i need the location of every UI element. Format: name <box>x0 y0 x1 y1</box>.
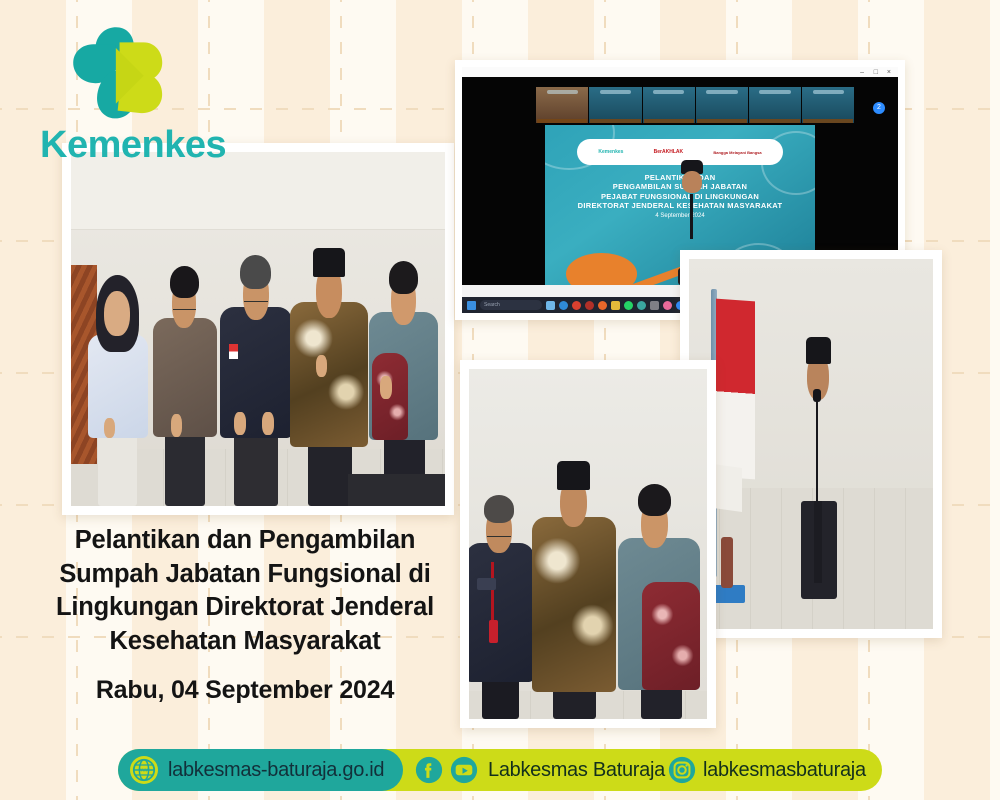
participant-thumbnail[interactable] <box>536 87 588 122</box>
footer-bar: www labkesmas-baturaja.go.id Labkesmas B… <box>0 740 1000 800</box>
instagram-icon[interactable] <box>668 756 696 784</box>
youtube-icon[interactable] <box>450 756 478 784</box>
kemenkes-logo-icon <box>58 22 170 124</box>
caption-line-4: Kesehatan Masyarakat <box>30 625 460 659</box>
taskbar-search-input[interactable]: Search <box>480 300 542 310</box>
caption-line-2: Sumpah Jabatan Fungsional di <box>30 558 460 592</box>
participant-thumbnail-strip <box>536 87 854 122</box>
participant-thumbnail[interactable] <box>643 87 695 122</box>
facebook-icon[interactable] <box>415 756 443 784</box>
facebook-youtube-handle[interactable]: Labkesmas Baturaja <box>488 758 665 782</box>
taskbar-app-icon[interactable] <box>650 301 659 310</box>
svg-text:www: www <box>139 768 150 774</box>
window-titlebar <box>462 67 898 77</box>
windows-start-icon[interactable] <box>467 301 476 310</box>
group-photo-five-people[interactable] <box>62 143 454 515</box>
caption-line-1: Pelantikan dan Pengambilan <box>30 524 460 558</box>
brand-logo: Kemenkes <box>40 22 226 164</box>
participant-count-badge[interactable]: 2 <box>873 102 885 114</box>
website-url[interactable]: labkesmas-baturaja.go.id <box>168 758 384 782</box>
taskbar-edge-icon[interactable] <box>559 301 568 310</box>
event-date: Rabu, 04 September 2024 <box>30 676 460 705</box>
poster-caption: Pelantikan dan Pengambilan Sumpah Jabata… <box>30 524 460 659</box>
slide-logo-berakhlak: BerAKHLAK <box>654 149 683 155</box>
participant-thumbnail[interactable] <box>589 87 641 122</box>
taskbar-app-icon[interactable] <box>663 301 672 310</box>
participant-thumbnail[interactable] <box>696 87 748 122</box>
maximize-icon[interactable]: □ <box>874 69 878 76</box>
taskbar-settings-icon[interactable] <box>637 301 646 310</box>
three-men-photo[interactable] <box>460 360 716 728</box>
slide-logo-kemenkes: Kemenkes <box>598 149 623 155</box>
caption-line-3: Lingkungan Direktorat Jenderal <box>30 591 460 625</box>
podium-oath-photo[interactable] <box>680 250 942 638</box>
taskbar-whatsapp-icon[interactable] <box>624 301 633 310</box>
participant-thumbnail[interactable] <box>749 87 801 122</box>
close-icon[interactable]: × <box>887 69 891 76</box>
globe-icon-glyph: www <box>132 758 156 782</box>
poster-canvas: Kemenkes <box>0 0 1000 800</box>
logo-wordmark: Kemenkes <box>40 126 226 164</box>
slide-logo-bangga-melayani: Bangga Melayani Bangsa <box>713 150 761 155</box>
participant-thumbnail[interactable] <box>802 87 854 122</box>
taskbar-chrome-icon[interactable] <box>598 301 607 310</box>
globe-icon: www <box>130 756 158 784</box>
instagram-handle[interactable]: labkesmasbaturaja <box>703 758 866 782</box>
taskbar-widgets-icon[interactable] <box>546 301 555 310</box>
minimize-icon[interactable]: – <box>860 69 864 76</box>
taskbar-app-icon[interactable] <box>572 301 581 310</box>
taskbar-explorer-icon[interactable] <box>611 301 620 310</box>
taskbar-app-icon[interactable] <box>585 301 594 310</box>
